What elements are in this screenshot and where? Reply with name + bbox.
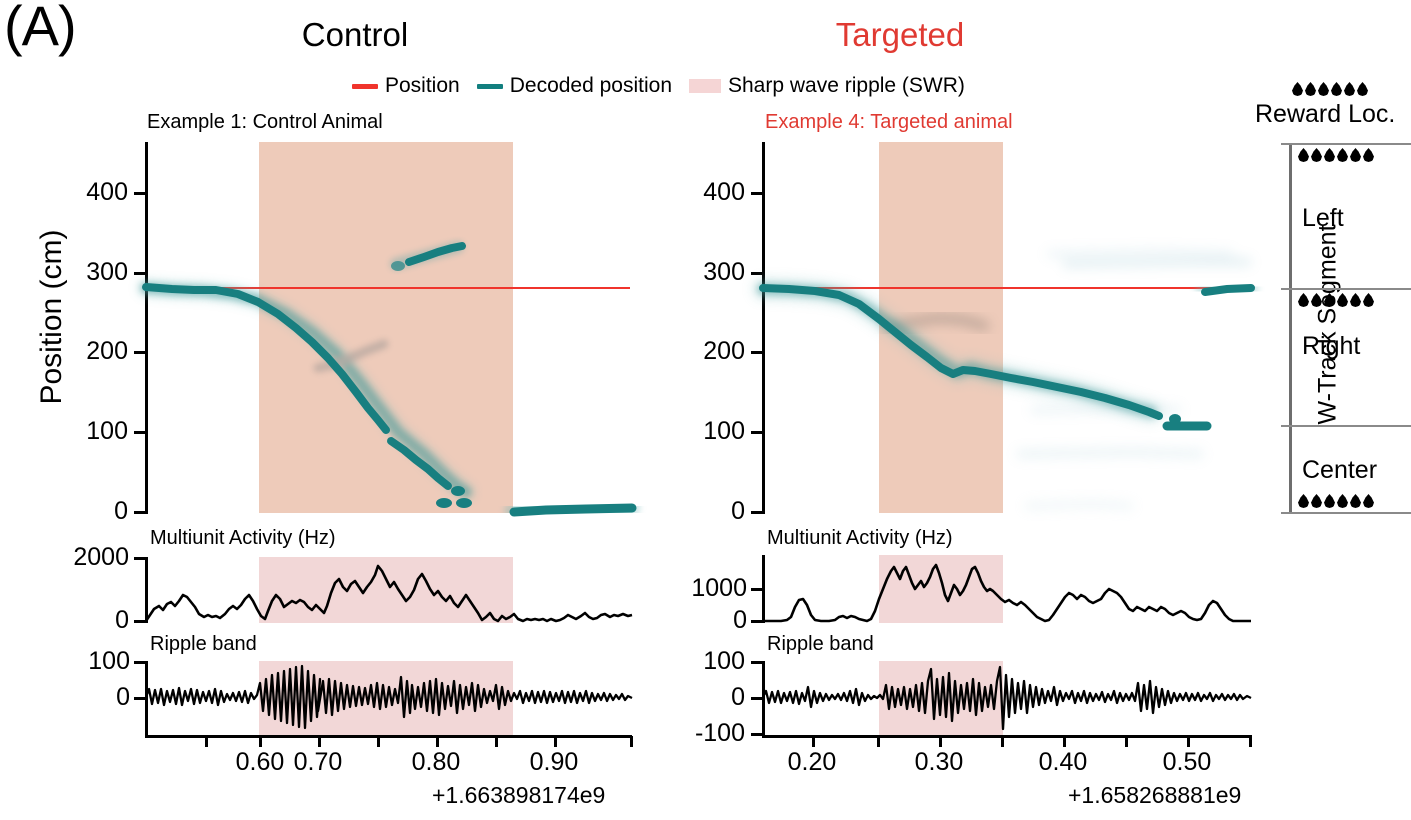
legend-label-position: Position (385, 74, 460, 98)
swr-patch-swatch-icon (689, 79, 721, 93)
x-tick-targeted-6 (1125, 736, 1128, 747)
droplet-icon (1344, 82, 1355, 96)
position-line-swatch-icon (352, 84, 378, 89)
droplet-icon (1357, 82, 1368, 96)
y-ticklabel-control-ripple-100: 100 (50, 649, 130, 674)
actual-position-line-control (146, 287, 630, 289)
y-tick-targeted-ripple-100 (751, 661, 762, 664)
y-tick-control-mua-0 (134, 620, 145, 623)
y-tick-targeted-ripple-m100 (751, 733, 762, 736)
chart-title-targeted-ripple: Ripple band (767, 634, 874, 654)
y-ticklabel-targeted-400: 400 (675, 180, 745, 205)
x-tick-targeted-4 (1001, 736, 1004, 747)
multiunit-trace-control (146, 557, 632, 624)
y-tick-targeted-100 (751, 431, 762, 434)
wtrack-boundary-top (1281, 143, 1411, 145)
wtrack-axis-spine (1289, 143, 1292, 513)
y-tick-control-ripple-100 (134, 661, 145, 664)
legend-label-decoded-position: Decoded position (510, 74, 672, 98)
droplet-icon (1363, 293, 1374, 307)
legend-item-position: Position (352, 74, 460, 98)
x-ticklabel-targeted-050: 0.50 (1137, 750, 1237, 775)
x-tick-targeted-8 (1249, 736, 1252, 747)
droplet-icon (1305, 82, 1316, 96)
y-tick-control-100 (134, 431, 145, 434)
column-title-targeted: Targeted (780, 18, 1020, 51)
legend-label-swr: Sharp wave ripple (SWR) (728, 74, 965, 98)
droplet-icon (1311, 494, 1322, 508)
decoded-trace-control-post-swr (514, 508, 632, 512)
chart-title-control-ripple: Ripple band (150, 634, 257, 654)
chart-title-control-example: Example 1: Control Animal (147, 112, 383, 132)
wtrack-boundary-bottom (1281, 512, 1411, 514)
panel-letter: (A) (4, 0, 76, 54)
droplet-icon (1337, 148, 1348, 162)
decoded-trace-targeted-return (1205, 288, 1251, 292)
reward-loc-label: Reward Loc. (1255, 100, 1395, 129)
wtrack-boundary-right-center (1281, 425, 1411, 427)
y-tick-targeted-mua-1000 (751, 588, 762, 591)
y-ticklabel-targeted-ripple-m100: -100 (648, 721, 745, 746)
x-ticklabel-control-090: 0.90 (504, 750, 604, 775)
droplet-icon (1298, 148, 1309, 162)
droplet-icon (1311, 293, 1322, 307)
decoded-position-line-swatch-icon (477, 84, 503, 89)
droplet-icon (1363, 148, 1374, 162)
legend-item-decoded-position: Decoded position (477, 74, 672, 98)
ripple-trace-control (146, 661, 632, 736)
y-ticklabel-control-mua-0: 0 (34, 608, 129, 633)
x-tick-control-3 (318, 736, 321, 747)
x-tick-targeted-7 (1187, 736, 1190, 747)
x-tick-control-8 (630, 736, 633, 747)
column-title-control: Control (245, 18, 465, 51)
x-tick-control-7 (554, 736, 557, 747)
y-ticklabel-targeted-100: 100 (675, 419, 745, 444)
y-tick-control-0 (134, 511, 145, 514)
decoded-trace-targeted-main (763, 288, 1159, 416)
droplet-icon (1324, 293, 1335, 307)
chart-title-control-multiunit: Multiunit Activity (Hz) (150, 528, 336, 548)
y-ticklabel-targeted-ripple-0: 0 (665, 685, 745, 710)
y-tick-targeted-200 (751, 351, 762, 354)
x-ticklabel-control-070: 0.70 (268, 750, 368, 775)
droplet-icon (1363, 494, 1374, 508)
x-tick-targeted-5 (1063, 736, 1066, 747)
wtrack-segment-label-center: Center (1302, 458, 1377, 483)
y-ticklabel-targeted-ripple-100: 100 (665, 649, 745, 674)
x-ticklabel-targeted-020: 0.20 (762, 750, 862, 775)
droplet-icon (1318, 82, 1329, 96)
droplet-icon (1292, 82, 1303, 96)
x-ticklabel-targeted-040: 0.40 (1013, 750, 1113, 775)
x-axis-offset-targeted: +1.658268881e9 (1068, 782, 1241, 809)
decoded-trace-control-seg2 (391, 441, 448, 486)
x-tick-targeted-3 (939, 736, 942, 747)
figure-legend: Position Decoded position Sharp wave rip… (352, 74, 965, 98)
x-ticklabel-control-080: 0.80 (386, 750, 486, 775)
y-tick-control-200 (134, 351, 145, 354)
decoded-trace-control-main (146, 287, 386, 430)
y-tick-control-300 (134, 272, 145, 275)
y-tick-targeted-ripple-0 (751, 697, 762, 700)
decoded-position-plot-control (146, 142, 632, 514)
chart-title-targeted-multiunit: Multiunit Activity (Hz) (767, 528, 953, 548)
droplet-icon (1331, 82, 1342, 96)
decoded-trace-control-upper (409, 246, 462, 262)
x-tick-targeted-2 (877, 736, 880, 747)
droplet-icon (1350, 293, 1361, 307)
droplet-icon (1298, 293, 1309, 307)
wtrack-boundary-left-right (1281, 288, 1411, 290)
y-tick-targeted-0 (751, 511, 762, 514)
droplet-icon (1298, 494, 1309, 508)
wtrack-droplets-left (1298, 148, 1374, 162)
y-ticklabel-targeted-mua-1000: 1000 (655, 576, 747, 601)
droplet-icon (1324, 494, 1335, 508)
droplet-icon (1324, 148, 1335, 162)
y-ticklabel-targeted-200: 200 (675, 339, 745, 364)
wtrack-droplets-right (1298, 293, 1374, 307)
y-tick-control-mua-2000 (134, 557, 145, 560)
y-ticklabel-targeted-mua-0: 0 (655, 608, 747, 633)
y-tick-targeted-300 (751, 272, 762, 275)
droplet-icon (1337, 494, 1348, 508)
y-axis-label-position: Position (cm) (35, 177, 69, 457)
droplet-icon (1350, 148, 1361, 162)
x-tick-control-2 (259, 736, 262, 747)
x-tick-control-6 (495, 736, 498, 747)
droplet-icon (1350, 494, 1361, 508)
x-tick-targeted-1 (812, 736, 815, 747)
x-ticklabel-targeted-030: 0.30 (889, 750, 989, 775)
y-tick-targeted-400 (751, 192, 762, 195)
y-ticklabel-control-ripple-0: 0 (50, 685, 130, 710)
chart-title-targeted-example: Example 4: Targeted animal (765, 112, 1013, 132)
droplet-icon (1311, 148, 1322, 162)
y-tick-control-400 (134, 192, 145, 195)
y-tick-targeted-mua-0 (751, 620, 762, 623)
y-ticklabel-targeted-0: 0 (675, 499, 745, 524)
y-ticklabel-targeted-300: 300 (675, 260, 745, 285)
x-tick-control-1 (205, 736, 208, 747)
wtrack-segment-label-right: Right (1302, 334, 1360, 359)
ripple-trace-targeted (763, 661, 1251, 736)
x-tick-control-4 (377, 736, 380, 747)
wtrack-segment-label-left: Left (1302, 206, 1344, 231)
decoded-position-plot-targeted (763, 142, 1251, 514)
y-axis-spine-control-position (145, 142, 148, 514)
wtrack-droplets-center (1298, 494, 1374, 508)
legend-item-swr: Sharp wave ripple (SWR) (689, 74, 965, 98)
y-tick-control-ripple-0 (134, 697, 145, 700)
x-tick-control-5 (436, 736, 439, 747)
swr-band-control-position (259, 142, 513, 513)
y-ticklabel-control-mua-2000: 2000 (34, 545, 129, 570)
reward-loc-droplet-icon-group (1292, 82, 1368, 96)
multiunit-trace-targeted (763, 555, 1251, 623)
x-axis-offset-control: +1.663898174e9 (432, 782, 605, 809)
y-ticklabel-control-0: 0 (58, 499, 128, 524)
droplet-icon (1337, 293, 1348, 307)
